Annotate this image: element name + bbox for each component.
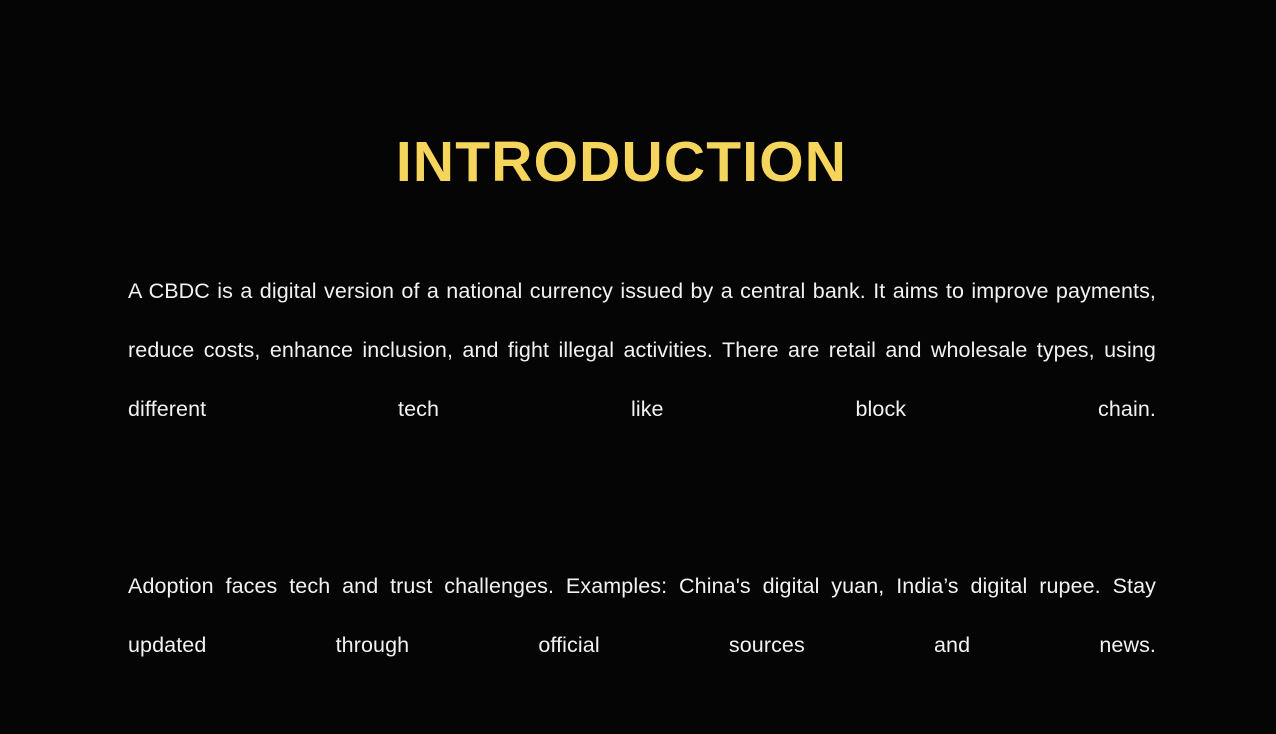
body-paragraph-1: A CBDC is a digital version of a nationa… bbox=[128, 262, 1156, 498]
page-title: INTRODUCTION bbox=[0, 134, 1243, 191]
slide-body-content: A CBDC is a digital version of a nationa… bbox=[128, 262, 1156, 734]
presentation-slide: INTRODUCTION A CBDC is a digital version… bbox=[0, 0, 1276, 705]
body-paragraph-2: Adoption faces tech and trust challenges… bbox=[128, 557, 1156, 734]
